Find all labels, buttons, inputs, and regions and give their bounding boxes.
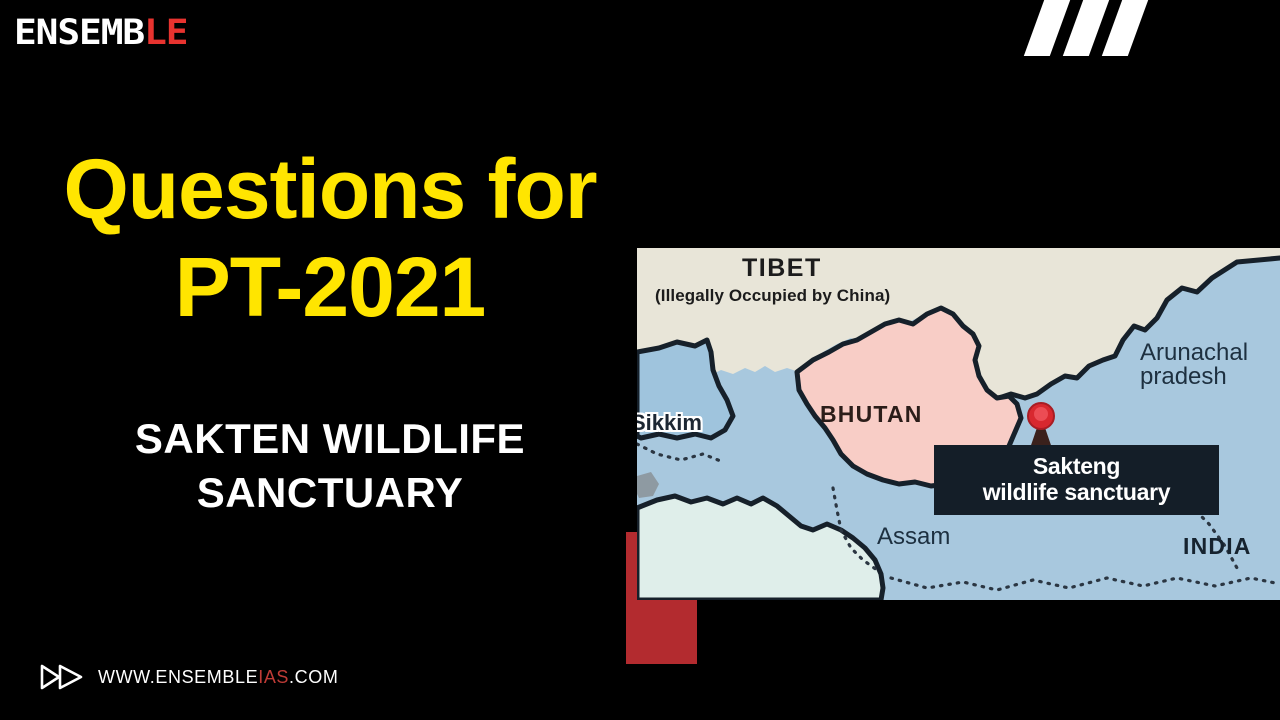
slash-bar-2 — [1063, 0, 1109, 56]
footer: WWW.ENSEMBLEIAS.COM — [40, 664, 338, 690]
headline-line-1: Questions for — [0, 148, 660, 230]
footer-url-suffix: .COM — [289, 667, 338, 687]
brand-logo-white-part: ENSEMB — [14, 13, 144, 53]
subtitle: SAKTEN WILDLIFE SANCTUARY — [0, 412, 660, 520]
headline: Questions for PT-2021 — [0, 148, 660, 329]
subtitle-line-1: SAKTEN WILDLIFE — [0, 412, 660, 466]
map-panel: TIBET (Illegally Occupied by China) BHUT… — [637, 248, 1280, 600]
brand-logo: ENSEMBLE — [14, 16, 187, 51]
callout-line-2: wildlife sanctuary — [983, 480, 1171, 506]
slash-bar-1 — [1024, 0, 1070, 56]
footer-url-prefix: WWW.ENSEMBLE — [98, 667, 258, 687]
footer-website-url[interactable]: WWW.ENSEMBLEIAS.COM — [98, 667, 338, 688]
slash-bar-3 — [1102, 0, 1148, 56]
subtitle-line-2: SANCTUARY — [0, 466, 660, 520]
sanctuary-callout-box: Sakteng wildlife sanctuary — [934, 445, 1219, 515]
footer-url-highlight: IAS — [258, 667, 289, 687]
slash-decoration-icon — [1034, 0, 1164, 56]
double-triangle-play-icon — [40, 664, 84, 690]
callout-line-1: Sakteng — [1033, 454, 1120, 480]
map-graphic — [637, 248, 1280, 600]
headline-line-2: PT-2021 — [0, 246, 660, 328]
brand-logo-red-part: LE — [144, 13, 187, 53]
